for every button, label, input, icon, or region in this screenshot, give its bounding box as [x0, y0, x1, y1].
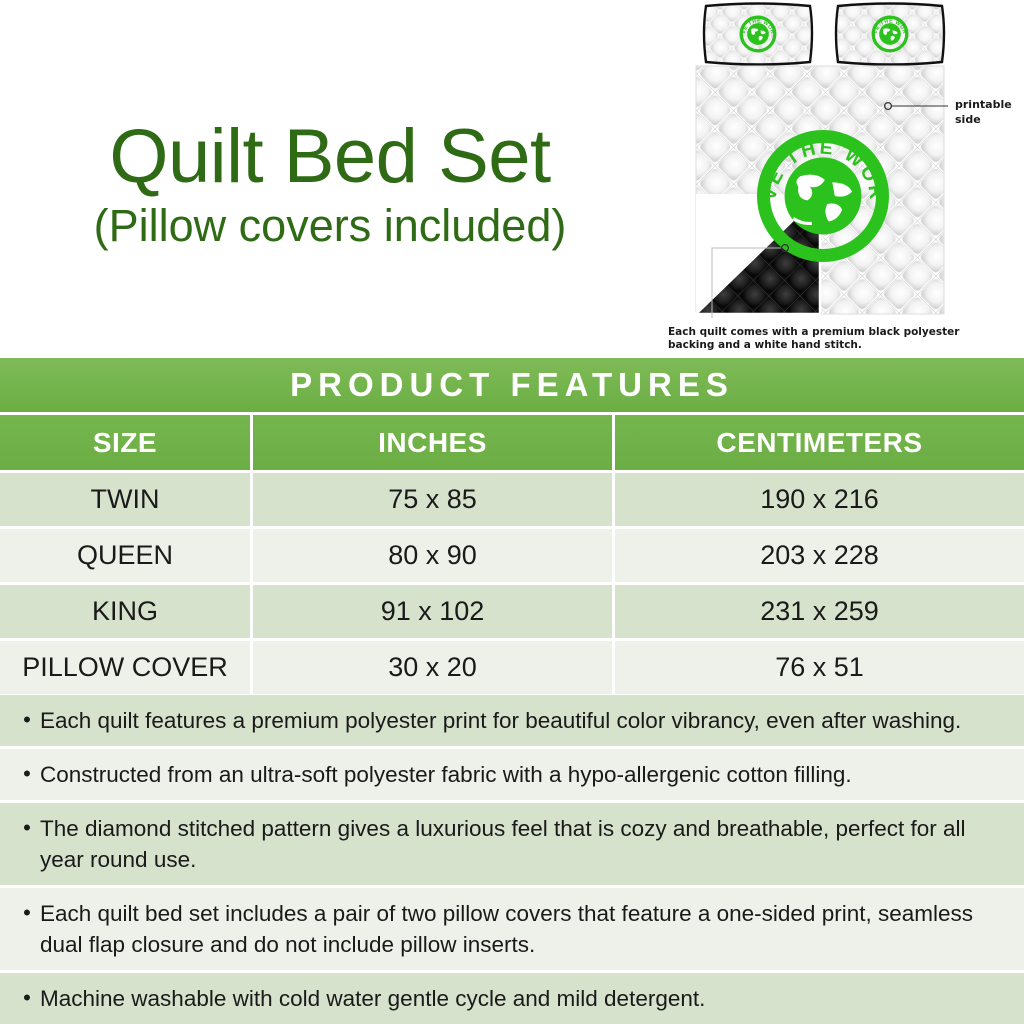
cell-inches: 91 x 102: [253, 585, 612, 638]
title-block: Quilt Bed Set (Pillow covers included): [0, 118, 660, 254]
backing-caption: Each quilt comes with a premium black po…: [668, 326, 968, 352]
list-item: • Each quilt features a premium polyeste…: [0, 695, 1024, 746]
printable-side-label: printable side: [955, 98, 1012, 128]
column-header-inches: INCHES: [253, 415, 612, 470]
list-item-text: Constructed from an ultra-soft polyester…: [40, 759, 1010, 790]
list-item-text: Each quilt bed set includes a pair of tw…: [40, 898, 1010, 960]
cell-inches: 30 x 20: [253, 641, 612, 694]
list-item-text: Each quilt features a premium polyester …: [40, 705, 1010, 736]
page-subtitle: (Pillow covers included): [0, 198, 660, 254]
printable-side-line2: side: [955, 113, 1012, 128]
list-item: • Constructed from an ultra-soft polyest…: [0, 749, 1024, 800]
table-row: PILLOW COVER 30 x 20 76 x 51: [0, 641, 1024, 694]
table-row: QUEEN 80 x 90 203 x 228: [0, 529, 1024, 582]
list-item: • Each quilt bed set includes a pair of …: [0, 888, 1024, 970]
table-banner: PRODUCT FEATURES: [0, 358, 1024, 415]
bullet-icon: •: [14, 759, 40, 789]
printable-side-line1: printable: [955, 98, 1012, 113]
cell-centimeters: 203 x 228: [615, 529, 1024, 582]
cell-size: QUEEN: [0, 529, 250, 582]
header-section: Quilt Bed Set (Pillow covers included): [0, 0, 1024, 358]
product-features-table: PRODUCT FEATURES SIZE INCHES CENTIMETERS…: [0, 358, 1024, 694]
cell-size: KING: [0, 585, 250, 638]
cell-centimeters: 76 x 51: [615, 641, 1024, 694]
table-row: TWIN 75 x 85 190 x 216: [0, 473, 1024, 526]
list-item: • Machine washable with cold water gentl…: [0, 973, 1024, 1024]
table-banner-label: PRODUCT FEATURES: [290, 366, 734, 404]
list-item-text: The diamond stitched pattern gives a lux…: [40, 813, 1010, 875]
column-header-size: SIZE: [0, 415, 250, 470]
cell-size: PILLOW COVER: [0, 641, 250, 694]
list-item: • The diamond stitched pattern gives a l…: [0, 803, 1024, 885]
cell-size: TWIN: [0, 473, 250, 526]
pillow-left: LOVE THE WORLD: [704, 4, 812, 65]
cell-inches: 75 x 85: [253, 473, 612, 526]
cell-centimeters: 231 x 259: [615, 585, 1024, 638]
page-title: Quilt Bed Set: [0, 118, 660, 196]
features-bullet-list: • Each quilt features a premium polyeste…: [0, 695, 1024, 1027]
cell-centimeters: 190 x 216: [615, 473, 1024, 526]
list-item-text: Machine washable with cold water gentle …: [40, 983, 1010, 1014]
column-header-centimeters: CENTIMETERS: [615, 415, 1024, 470]
table-header-row: SIZE INCHES CENTIMETERS: [0, 415, 1024, 470]
bullet-icon: •: [14, 898, 40, 928]
bullet-icon: •: [14, 813, 40, 843]
bullet-icon: •: [14, 983, 40, 1013]
pillow-right: LOVE THE WORLD: [836, 4, 944, 65]
cell-inches: 80 x 90: [253, 529, 612, 582]
product-illustration: LOVE THE WORLD LOVE THE WORLD: [660, 0, 1024, 358]
bullet-icon: •: [14, 705, 40, 735]
table-row: KING 91 x 102 231 x 259: [0, 585, 1024, 638]
